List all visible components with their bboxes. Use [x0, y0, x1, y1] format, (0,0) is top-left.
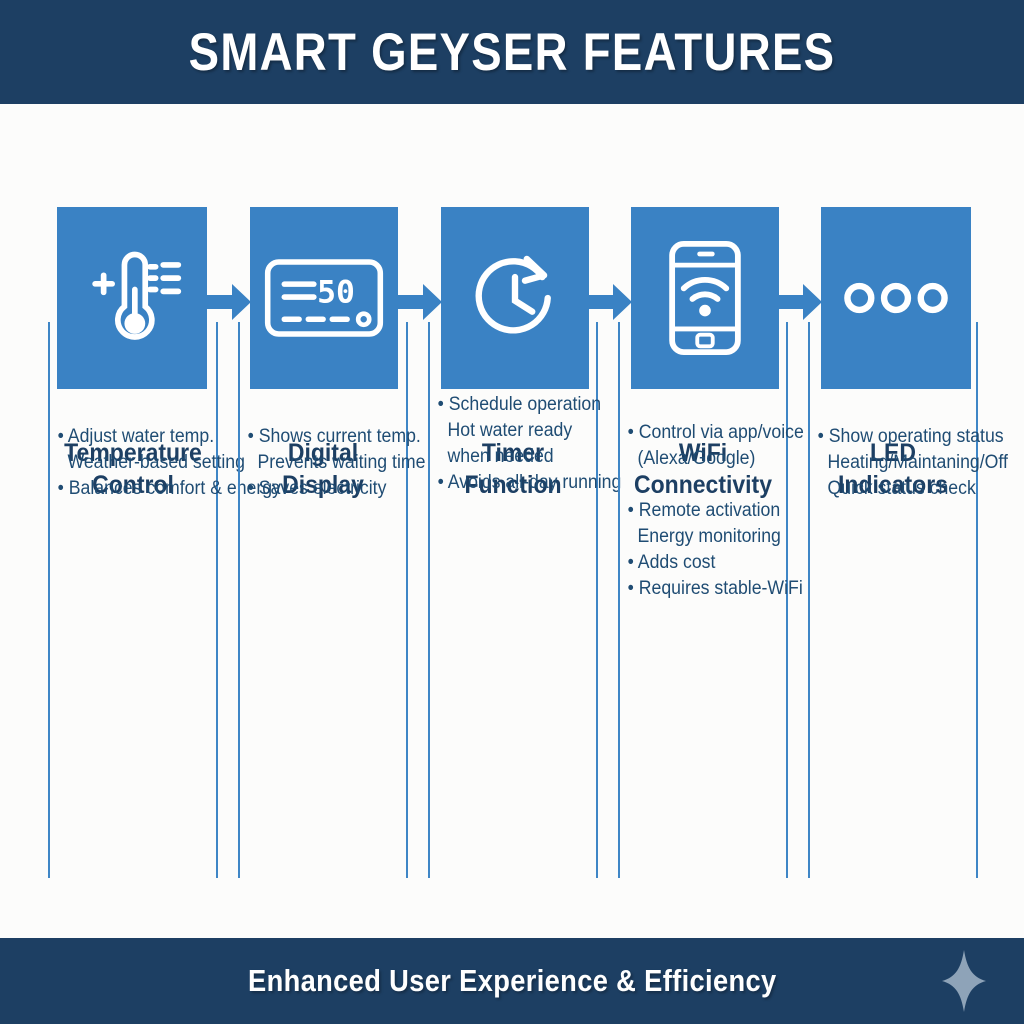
bullet-text: Weather-based setting — [67, 452, 244, 473]
feature-bullets-3: • Schedule operation Hot water ready whe… — [438, 392, 589, 496]
bullet-item: • Adjust water temp. — [58, 424, 209, 450]
bullet-marker — [248, 452, 258, 473]
card-rule-right — [406, 322, 408, 878]
svg-text:50: 50 — [317, 275, 355, 311]
clock-timer-icon — [465, 248, 565, 348]
bullet-marker: • — [248, 426, 259, 447]
bullet-text: Hot water ready — [447, 420, 572, 441]
infographic-poster: SMART GEYSER FEATURES TemperatureControl… — [0, 0, 1024, 1024]
feature-column-5[interactable]: LED Indicators• Show operating status He… — [808, 104, 978, 938]
bullet-item: • Shows current temp. — [248, 424, 399, 450]
card-rule-left — [808, 322, 810, 878]
bullet-marker — [438, 446, 448, 467]
bullet-marker: • — [58, 426, 68, 447]
bullet-marker: • — [438, 394, 449, 415]
card-rule-left — [238, 322, 240, 878]
bullet-item: • Control via app/voice — [628, 420, 779, 446]
smartphone-wifi-icon — [666, 240, 744, 356]
bullet-text: Adds cost — [638, 552, 716, 573]
page-title: SMART GEYSER FEATURES — [189, 22, 836, 83]
bullet-marker — [628, 526, 638, 547]
bullet-text: Shows current temp. — [259, 426, 421, 447]
icon-tile-4[interactable] — [631, 207, 779, 389]
bullet-text: Prevents waiting time — [257, 452, 425, 473]
bullet-marker: • — [438, 472, 448, 493]
bullet-item: • Show operating status — [818, 424, 969, 450]
card-rule-left — [48, 322, 50, 878]
bullet-marker — [438, 420, 448, 441]
bullet-spacer — [628, 472, 779, 498]
bullet-item: Quick status check — [818, 476, 969, 502]
bullet-item: • Schedule operation — [438, 392, 589, 418]
feature-column-4[interactable]: WiFi Connectivity• Control via app/voice… — [618, 104, 788, 938]
bullet-marker: • — [248, 478, 259, 499]
icon-tile-3[interactable] — [441, 207, 589, 389]
bullet-marker — [58, 452, 68, 473]
bullet-item: • Avoids all-day running — [438, 470, 589, 496]
card-rule-left — [618, 322, 620, 878]
bullet-item: • Remote activation — [628, 498, 779, 524]
flow-arrow-3 — [588, 284, 632, 320]
bullet-text: (Alexa/Google) — [637, 448, 755, 469]
flow-arrow-1 — [207, 284, 251, 320]
card-rule-right — [216, 322, 218, 878]
bullet-item: when needed — [438, 444, 589, 470]
led-dots-icon — [841, 279, 951, 317]
bullet-item: Hot water ready — [438, 418, 589, 444]
bullet-marker — [628, 448, 638, 469]
bullet-text: Avoids all-day running — [448, 472, 622, 493]
bullet-marker: • — [628, 552, 638, 573]
feature-bullets-2: • Shows current temp. Prevents waiting t… — [248, 424, 399, 502]
bullet-item: • Adds cost — [628, 550, 779, 576]
card-rule-left — [428, 322, 430, 878]
card-rule-right — [976, 322, 978, 878]
bullet-text: Saves electricity — [259, 478, 387, 499]
bullet-marker: • — [818, 426, 829, 447]
icon-tile-5[interactable] — [821, 207, 971, 389]
bullet-item: Prevents waiting time — [248, 450, 399, 476]
bullet-text: Heating/Maintaning/Off — [827, 452, 1007, 473]
bullet-text: when needed — [447, 446, 553, 467]
bullet-item: • Saves electricity — [248, 476, 399, 502]
feature-columns: TemperatureControl• Adjust water temp. W… — [0, 104, 1024, 938]
bullet-text: Energy monitoring — [637, 526, 780, 547]
bullet-item: Weather-based setting — [58, 450, 209, 476]
bullet-text: Quick status check — [827, 478, 975, 499]
bullet-item: • Balances comfort & energy — [58, 476, 209, 502]
digital-display-icon: 50 — [264, 258, 384, 338]
feature-bullets-4: • Control via app/voice (Alexa/Google)• … — [628, 420, 779, 602]
flow-arrow-4 — [778, 284, 822, 320]
feature-column-1[interactable]: TemperatureControl• Adjust water temp. W… — [48, 104, 218, 938]
bullet-item: Heating/Maintaning/Off — [818, 450, 969, 476]
header-banner: SMART GEYSER FEATURES — [0, 0, 1024, 104]
flow-arrow-2 — [398, 284, 442, 320]
footer-banner: Enhanced User Experience & Efficiency — [0, 938, 1024, 1024]
icon-tile-1[interactable] — [57, 207, 207, 389]
bullet-text: Schedule operation — [449, 394, 601, 415]
feature-column-3[interactable]: Timer Function• Schedule operation Hot w… — [428, 104, 598, 938]
bullet-item: • Requires stable-WiFi — [628, 576, 779, 602]
feature-bullets-5: • Show operating status Heating/Maintani… — [818, 424, 969, 502]
feature-column-2[interactable]: 50 Digital Display• Shows current temp. … — [238, 104, 408, 938]
feature-bullets-1: • Adjust water temp. Weather-based setti… — [58, 424, 209, 502]
bullet-text: Control via app/voice — [639, 422, 804, 443]
bullet-item: Energy monitoring — [628, 524, 779, 550]
bullet-marker: • — [628, 500, 639, 521]
bullet-marker: • — [628, 578, 639, 599]
thermometer-plus-icon — [80, 246, 184, 350]
bullet-text: Adjust water temp. — [68, 426, 214, 447]
bullet-marker — [818, 452, 828, 473]
footer-tagline: Enhanced User Experience & Efficiency — [248, 963, 777, 999]
sparkle-icon — [942, 950, 986, 1012]
bullet-item: (Alexa/Google) — [628, 446, 779, 472]
bullet-text: Requires stable-WiFi — [639, 578, 803, 599]
card-rule-right — [786, 322, 788, 878]
bullet-marker — [818, 478, 828, 499]
bullet-marker: • — [628, 422, 639, 443]
icon-tile-2[interactable]: 50 — [250, 207, 398, 389]
bullet-marker: • — [58, 478, 69, 499]
bullet-text: Remote activation — [639, 500, 780, 521]
bullet-text: Show operating status — [829, 426, 1004, 447]
